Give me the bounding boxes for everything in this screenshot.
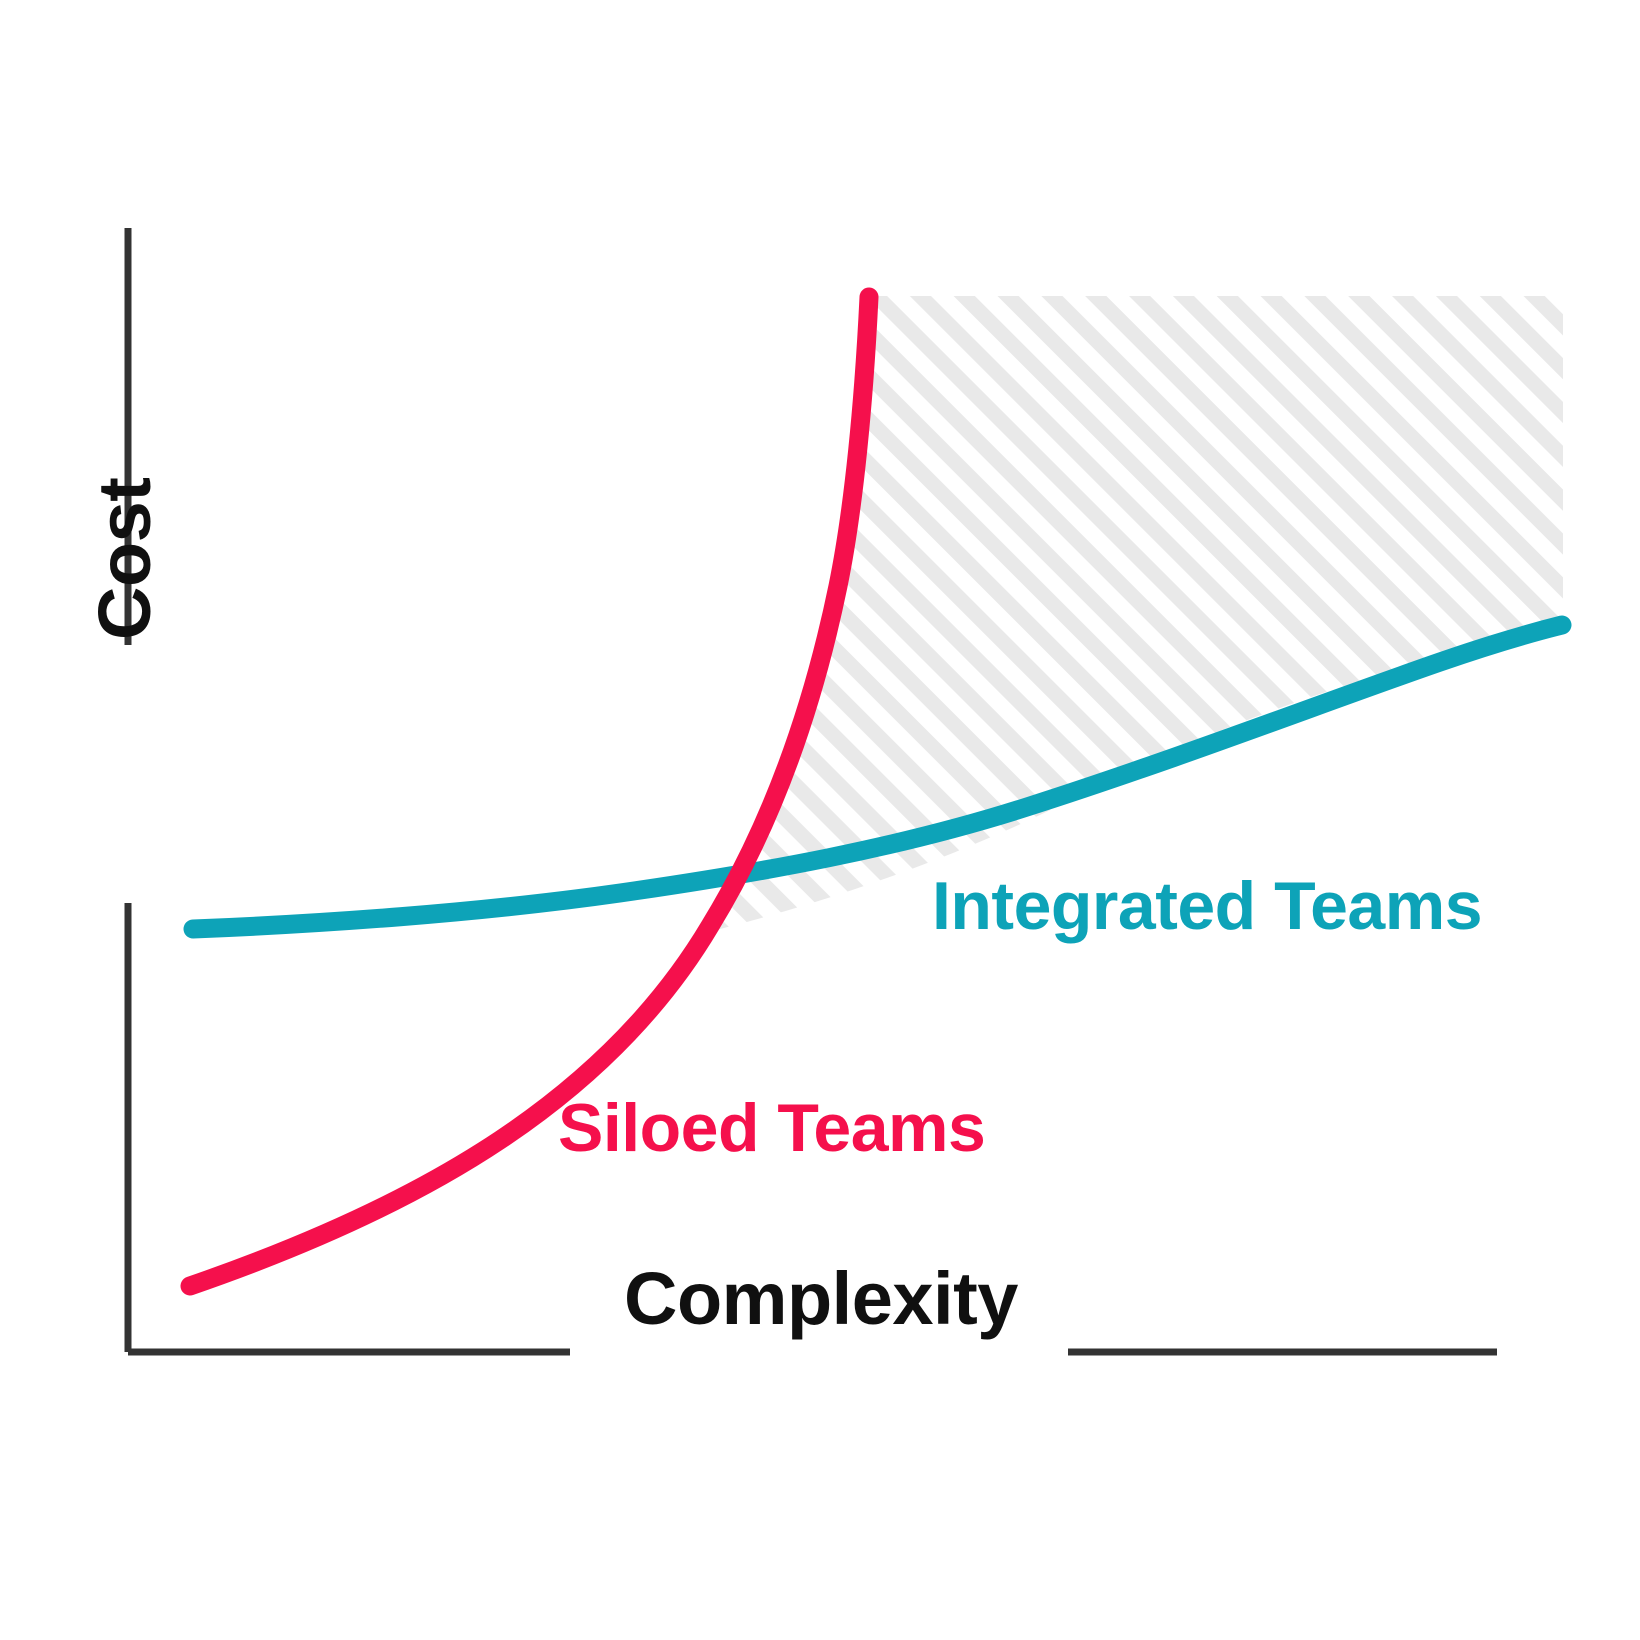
cost-vs-complexity-chart xyxy=(0,0,1640,1640)
series-label-siloed-teams: Siloed Teams xyxy=(558,1094,985,1162)
y-axis-label: Cost xyxy=(88,478,162,640)
x-axis-label: Complexity xyxy=(624,1262,1018,1336)
series-label-integrated-teams: Integrated Teams xyxy=(932,872,1482,940)
chart-canvas: Cost Complexity Siloed Teams Integrated … xyxy=(0,0,1640,1640)
